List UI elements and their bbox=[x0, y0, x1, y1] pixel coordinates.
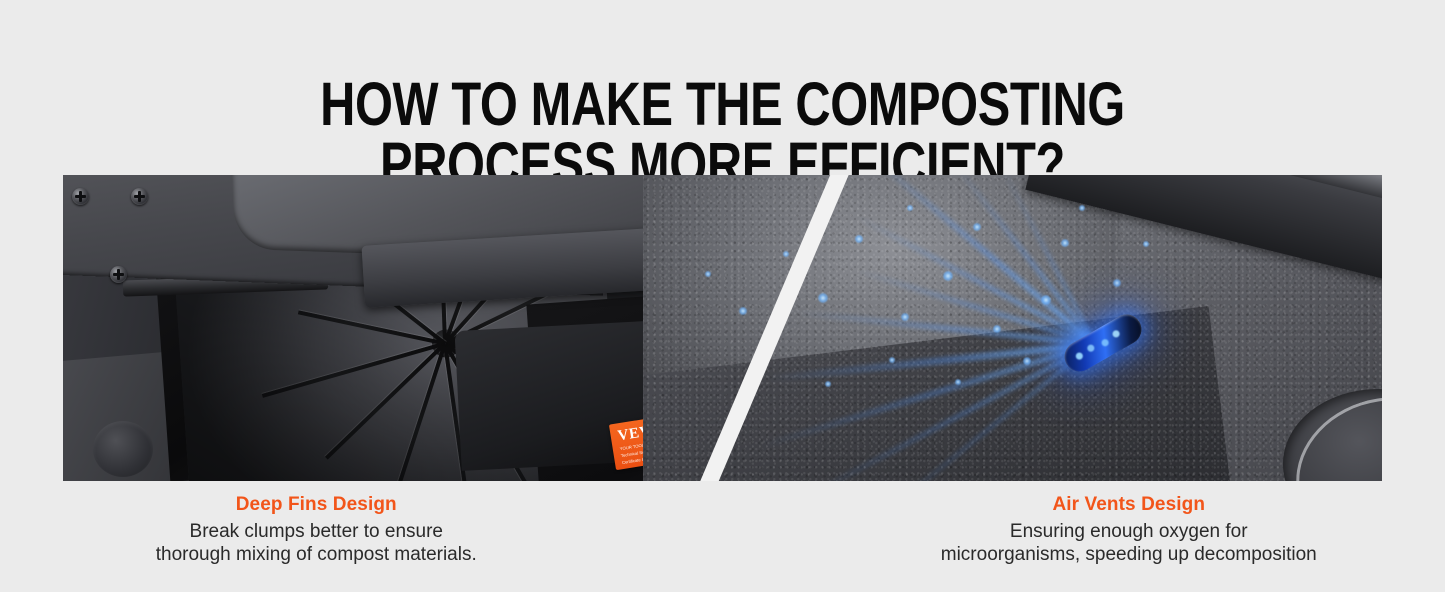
light-sparkle bbox=[705, 271, 711, 277]
light-sparkle bbox=[993, 325, 1001, 333]
light-sparkle bbox=[1023, 357, 1031, 365]
air-vents-photo bbox=[643, 175, 1382, 481]
light-sparkle bbox=[855, 235, 863, 243]
light-sparkle bbox=[1079, 205, 1085, 211]
light-sparkle bbox=[783, 251, 789, 257]
light-sparkle bbox=[818, 293, 828, 303]
caption-title-deep-fins: Deep Fins Design bbox=[0, 494, 633, 516]
caption-title-air-vents: Air Vents Design bbox=[813, 494, 1445, 516]
caption-body-deep-fins: Break clumps better to ensure thorough m… bbox=[0, 520, 633, 566]
fin-rib bbox=[298, 310, 446, 345]
light-sparkle bbox=[1113, 279, 1121, 287]
fin-rib bbox=[262, 342, 446, 398]
phillips-screw-icon bbox=[110, 266, 127, 283]
fin-rib bbox=[325, 342, 446, 459]
photo-band: VEVOR YOUR TOOLS. YOUR WAY Technical Sup… bbox=[63, 175, 1382, 481]
light-sparkle bbox=[1143, 241, 1149, 247]
caption-body-air-vents: Ensuring enough oxygen for microorganism… bbox=[813, 520, 1445, 566]
phillips-screw-icon bbox=[131, 188, 148, 205]
light-sparkle bbox=[973, 223, 981, 231]
light-sparkle bbox=[889, 357, 895, 363]
knob-detail bbox=[93, 421, 153, 477]
light-sparkle bbox=[739, 307, 747, 315]
light-sparkle bbox=[763, 357, 769, 363]
light-sparkle bbox=[1041, 295, 1051, 305]
light-sparkle bbox=[943, 271, 953, 281]
light-sparkle bbox=[825, 381, 831, 387]
caption-row: Deep Fins Design Break clumps better to … bbox=[0, 494, 1445, 566]
product-feature-banner: HOW TO MAKE THE COMPOSTING PROCESS MORE … bbox=[0, 0, 1445, 592]
light-sparkle bbox=[907, 205, 913, 211]
light-sparkle bbox=[955, 379, 961, 385]
caption-air-vents: Air Vents Design Ensuring enough oxygen … bbox=[723, 494, 1445, 566]
light-sparkle bbox=[1061, 239, 1069, 247]
fin-rib bbox=[397, 343, 447, 481]
phillips-screw-icon bbox=[72, 188, 89, 205]
light-sparkle bbox=[901, 313, 909, 321]
caption-deep-fins: Deep Fins Design Break clumps better to … bbox=[0, 494, 723, 566]
